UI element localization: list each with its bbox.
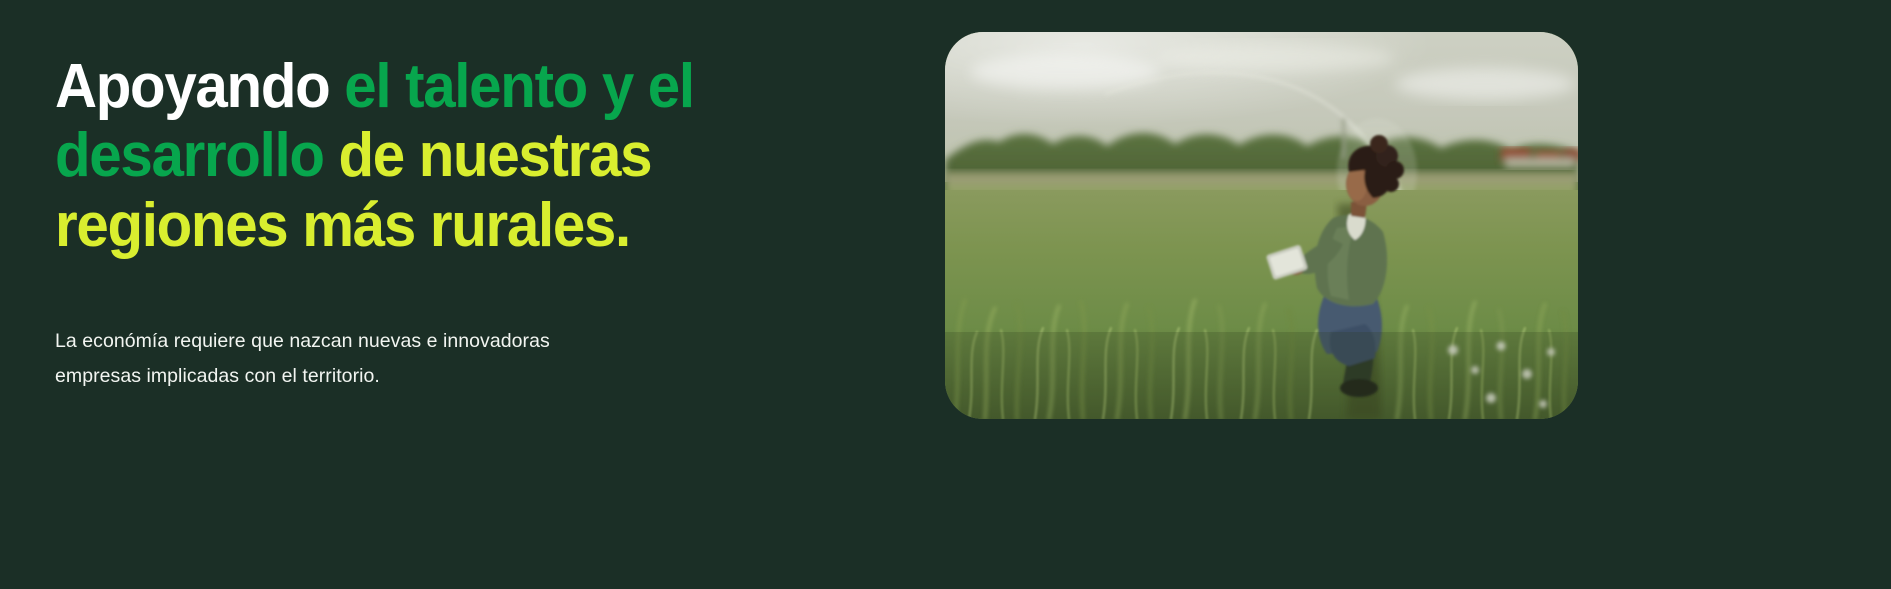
headline-line-2: desarrollo de nuestras bbox=[55, 121, 769, 190]
hero-paragraph-line-1: La económía requiere que nazcan nuevas e… bbox=[55, 324, 755, 359]
headline-line-1: Apoyando el talento y el bbox=[55, 52, 769, 121]
headline-segment-nuestras: de nuestras bbox=[338, 121, 651, 190]
headline-segment-desarrollo: desarrollo bbox=[55, 121, 338, 190]
hero-paragraph: La económía requiere que nazcan nuevas e… bbox=[55, 324, 755, 393]
hero-banner: Apoyando el talento y el desarrollo de n… bbox=[0, 0, 1891, 589]
field-photograph bbox=[945, 32, 1578, 419]
headline-segment-talento: el talento y el bbox=[344, 52, 694, 121]
hero-copy-column: Apoyando el talento y el desarrollo de n… bbox=[55, 52, 815, 260]
headline-line-3: regiones más rurales. bbox=[55, 191, 769, 260]
hero-paragraph-line-2: empresas implicadas con el territorio. bbox=[55, 359, 755, 394]
headline-segment-regiones: regiones más rurales. bbox=[55, 191, 630, 260]
hero-photo bbox=[945, 32, 1578, 419]
page-title: Apoyando el talento y el desarrollo de n… bbox=[55, 52, 769, 260]
headline-segment-apoyando: Apoyando bbox=[55, 52, 344, 121]
